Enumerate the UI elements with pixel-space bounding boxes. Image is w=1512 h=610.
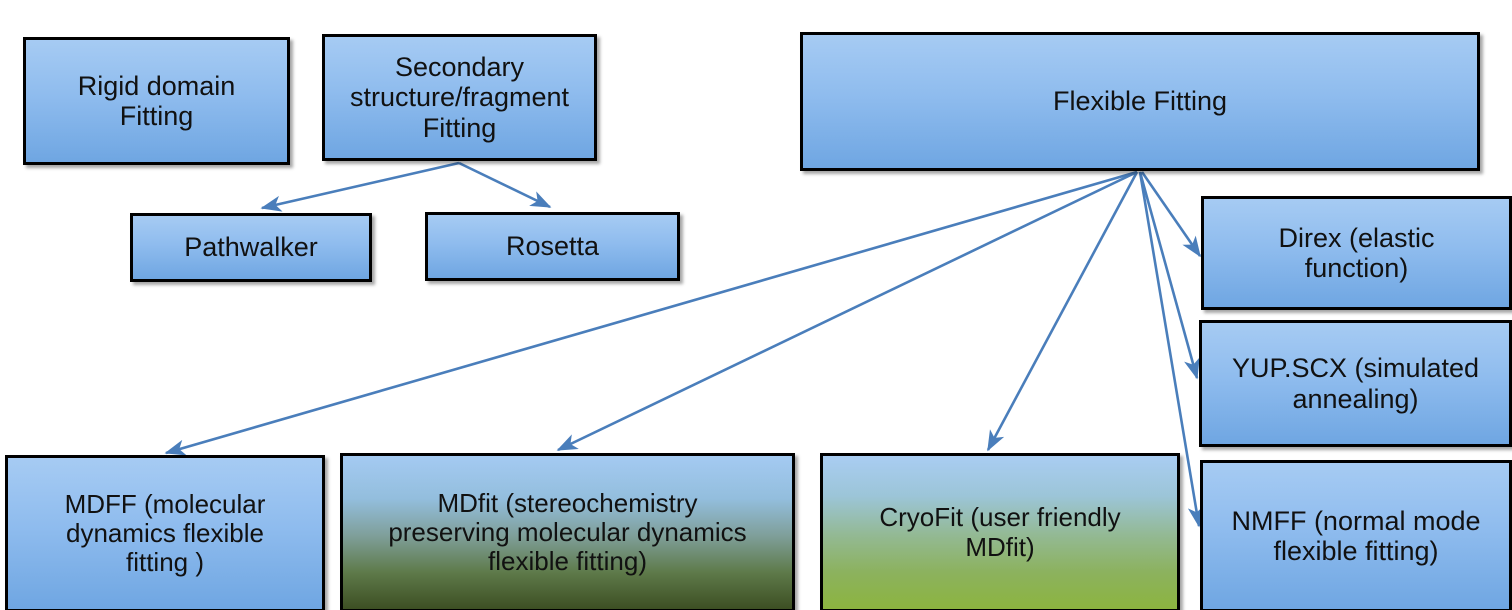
node-label: Direx (elastic function) — [1272, 223, 1440, 283]
node-mdff[interactable]: MDFF (molecular dynamics flexible fittin… — [5, 455, 325, 610]
node-secondary-structure-fragment-fitting[interactable]: Secondary structure/fragment Fitting — [322, 34, 597, 161]
edge-secondary-to-pathwalker — [262, 163, 459, 208]
edge-flexible-to-direx — [1142, 172, 1200, 256]
node-mdfit[interactable]: MDfit (stereochemistry preserving molecu… — [340, 453, 795, 610]
node-rosetta[interactable]: Rosetta — [425, 212, 680, 281]
node-label: Pathwalker — [178, 232, 324, 262]
node-label: Rigid domain Fitting — [72, 71, 242, 131]
node-cryofit[interactable]: CryoFit (user friendly MDfit) — [820, 453, 1180, 610]
edge-secondary-to-rosetta — [459, 163, 550, 207]
node-pathwalker[interactable]: Pathwalker — [130, 213, 372, 282]
node-label: MDfit (stereochemistry preserving molecu… — [382, 489, 752, 576]
node-label: Secondary structure/fragment Fitting — [344, 52, 575, 143]
node-rigid-domain-fitting[interactable]: Rigid domain Fitting — [23, 37, 290, 165]
node-flexible-fitting[interactable]: Flexible Fitting — [800, 32, 1480, 171]
node-label: MDFF (molecular dynamics flexible fittin… — [59, 490, 272, 577]
node-label: CryoFit (user friendly MDfit) — [873, 503, 1126, 561]
edge-flexible-to-yupscx — [1140, 172, 1197, 378]
node-nmff[interactable]: NMFF (normal mode flexible fitting) — [1200, 460, 1512, 610]
node-label: NMFF (normal mode flexible fitting) — [1225, 506, 1486, 566]
node-yup-scx[interactable]: YUP.SCX (simulated annealing) — [1199, 320, 1512, 447]
node-label: YUP.SCX (simulated annealing) — [1226, 353, 1485, 413]
edge-flexible-to-cryofit — [988, 172, 1137, 450]
node-direx[interactable]: Direx (elastic function) — [1201, 196, 1512, 310]
diagram-canvas: Rigid domain Fitting Secondary structure… — [0, 0, 1512, 610]
node-label: Rosetta — [500, 231, 605, 261]
node-label: Flexible Fitting — [1047, 86, 1233, 116]
